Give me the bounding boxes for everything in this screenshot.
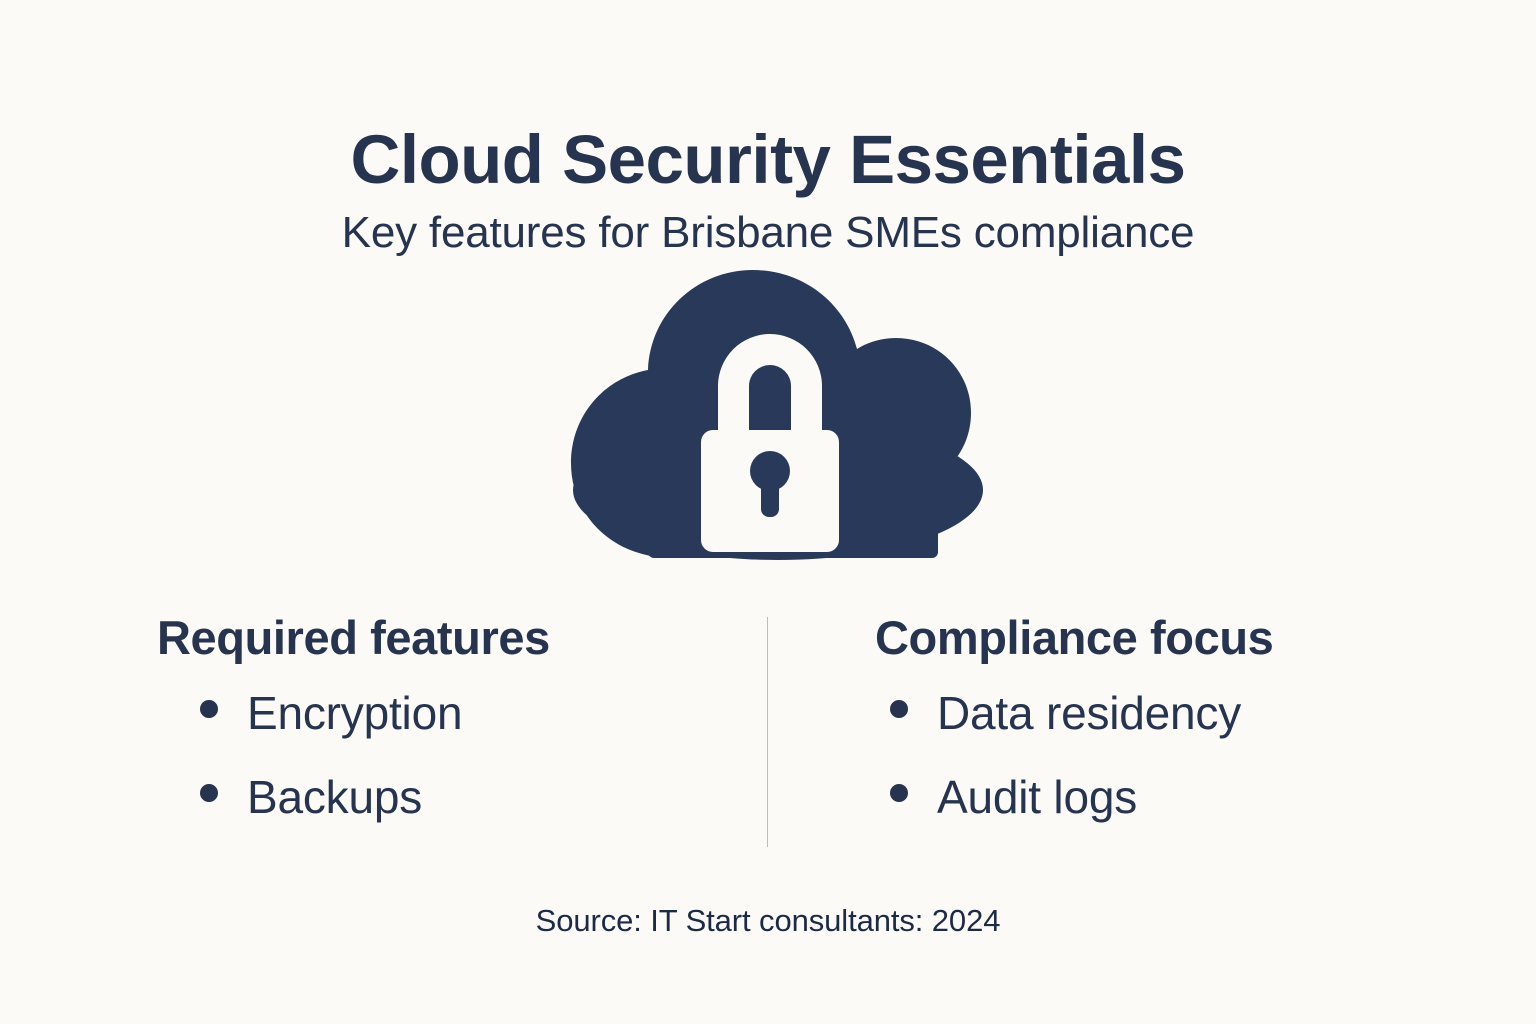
source-caption: Source: IT Start consultants: 2024: [0, 903, 1536, 939]
page-title: Cloud Security Essentials: [0, 124, 1536, 196]
columns-container: Required features Encryption Backups Com…: [0, 612, 1536, 862]
list-item: Encryption: [157, 690, 727, 736]
column-heading: Required features: [157, 612, 727, 664]
compliance-list: Data residency Audit logs: [875, 690, 1435, 820]
cloud-lock-icon: [538, 258, 998, 568]
column-heading: Compliance focus: [875, 612, 1435, 664]
page-subtitle: Key features for Brisbane SMEs complianc…: [0, 209, 1536, 257]
list-item-label: Backups: [247, 774, 422, 820]
list-item-label: Audit logs: [937, 774, 1137, 820]
bullet-icon: [890, 700, 908, 718]
feature-list: Encryption Backups: [157, 690, 727, 820]
list-item: Data residency: [875, 690, 1435, 736]
list-item-label: Data residency: [937, 690, 1241, 736]
list-item: Backups: [157, 774, 727, 820]
bullet-icon: [890, 784, 908, 802]
column-required-features: Required features Encryption Backups: [157, 612, 727, 820]
column-compliance-focus: Compliance focus Data residency Audit lo…: [875, 612, 1435, 820]
list-item: Audit logs: [875, 774, 1435, 820]
column-divider: [767, 617, 768, 847]
bullet-icon: [200, 700, 218, 718]
list-item-label: Encryption: [247, 690, 462, 736]
infographic-canvas: Cloud Security Essentials Key features f…: [0, 0, 1536, 1024]
bullet-icon: [200, 784, 218, 802]
